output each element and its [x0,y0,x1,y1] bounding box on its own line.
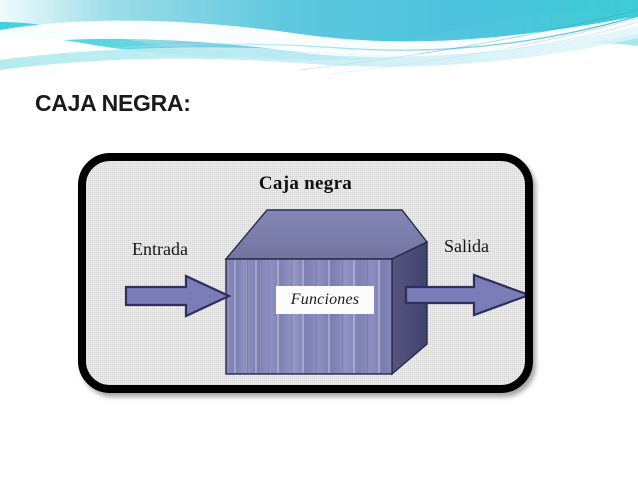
diagram-frame-inner: Caja negra [86,161,525,385]
header-wave-decoration [0,0,638,80]
input-arrow-icon [124,273,232,319]
wave-layer-ribbon [0,26,638,70]
wave-layer-white [0,16,638,59]
wave-hairline-2 [0,22,638,66]
entrada-label: Entrada [132,239,188,260]
wave-hairline-4 [330,18,638,74]
output-arrow-icon [404,271,532,319]
funciones-label: Funciones [276,286,374,314]
wave-layer-fade [0,20,638,80]
wave-layer-main [0,0,638,60]
salida-label: Salida [444,236,489,257]
diagram-frame-border: Caja negra [78,153,533,393]
diagram-title: Caja negra [86,173,525,195]
wave-layer-base [0,0,638,58]
black-box-diagram: Caja negra [74,149,538,401]
slide-canvas: CAJA NEGRA: Caja negra [0,0,638,479]
wave-hairline-1 [0,16,638,62]
wave-hairline-3 [300,10,638,70]
box-top-face [226,210,427,259]
page-title: CAJA NEGRA: [35,90,191,117]
